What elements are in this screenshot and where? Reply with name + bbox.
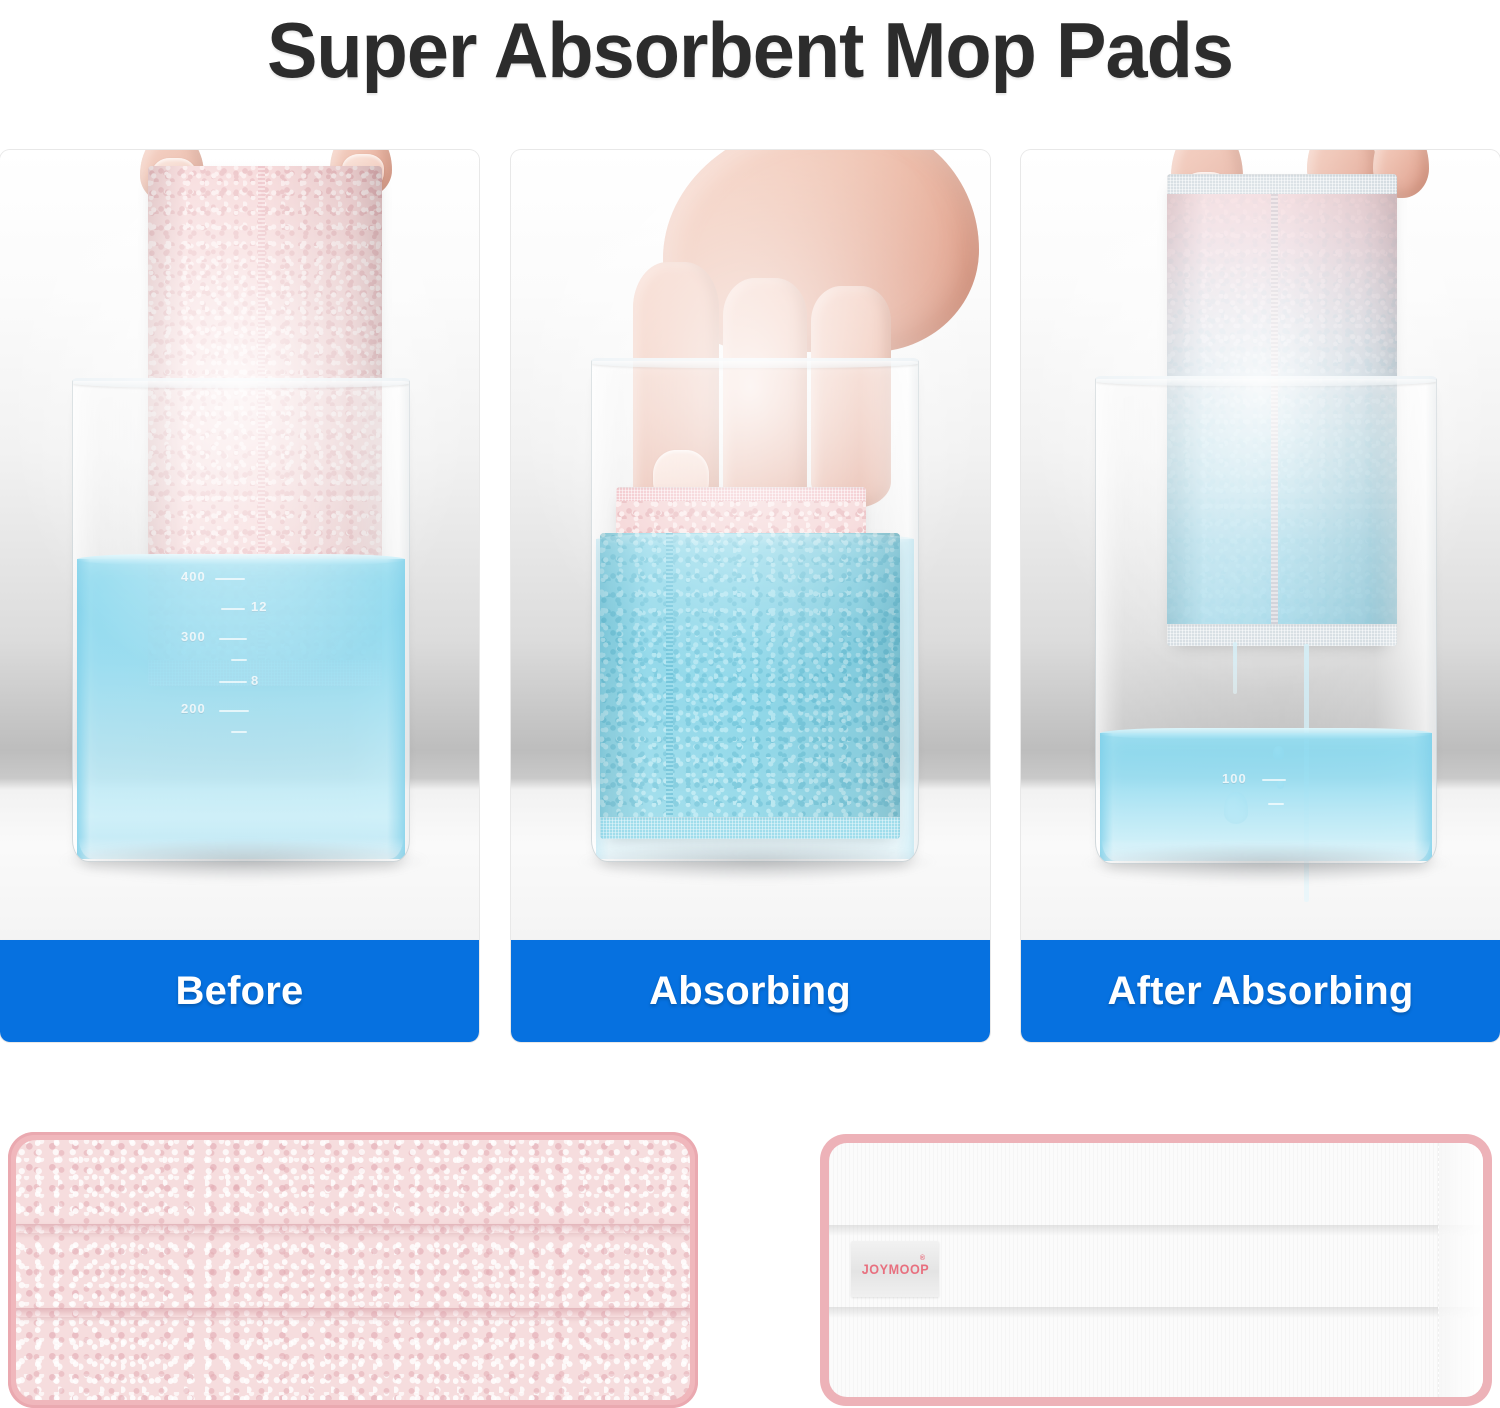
brand-tag: JOYMOOP ® (851, 1241, 939, 1297)
demo-panel-before[interactable]: 400 12 300 8 200 Before (0, 150, 479, 1042)
liquid-edge-right (387, 559, 405, 859)
page-header: Super Absorbent Mop Pads (0, 0, 1500, 100)
panel-caption-absorbing: Absorbing (511, 940, 990, 1042)
page-title: Super Absorbent Mop Pads (267, 11, 1233, 89)
liquid-surface (596, 534, 914, 545)
panel-caption-before: Before (0, 940, 479, 1042)
graduation-tick (219, 710, 249, 712)
graduation-tick (219, 638, 247, 640)
liquid-fill (596, 539, 914, 859)
graduation-tick (215, 578, 245, 580)
graduation-tick (1262, 779, 1286, 781)
pad-velcro-surface: JOYMOOP ® (829, 1143, 1483, 1397)
graduation-tick (231, 731, 247, 733)
graduation-tick (219, 681, 247, 683)
product-mop-pad-front[interactable] (8, 1132, 698, 1408)
liquid-edge-left (596, 539, 609, 859)
cup-rim (1095, 376, 1437, 386)
demo-panel-absorbing[interactable]: Absorbing (511, 150, 990, 1042)
panel-caption-after-absorbing: After Absorbing (1021, 940, 1500, 1042)
caption-label: After Absorbing (1108, 969, 1414, 1014)
pad-mesh-band (616, 487, 866, 501)
photo-absorbing (511, 150, 990, 940)
pad-band (16, 1308, 690, 1317)
pad-band (829, 1307, 1483, 1318)
brand-label: JOYMOOP (861, 1261, 929, 1277)
measuring-cup: 400 12 300 8 200 (72, 378, 410, 862)
liquid-edge-right (896, 539, 914, 859)
caption-label: Before (176, 969, 304, 1014)
liquid-surface (1100, 728, 1432, 739)
cup-shadow (60, 840, 428, 882)
graduation-tick (1268, 803, 1284, 805)
caption-label: Absorbing (649, 969, 851, 1014)
photo-after-absorbing: 100 (1021, 150, 1500, 940)
measuring-cup (591, 358, 919, 862)
product-shots-row: JOYMOOP ® (0, 1118, 1500, 1408)
product-mop-pad-back[interactable]: JOYMOOP ® (820, 1134, 1492, 1406)
pad-pocket-flap (1438, 1143, 1483, 1397)
cup-shadow (579, 842, 935, 882)
pad-mesh-band (1167, 174, 1397, 194)
photo-before: 400 12 300 8 200 (0, 150, 479, 940)
pad-plush-surface (16, 1140, 690, 1400)
measuring-cup: 100 (1095, 376, 1437, 864)
pad-band (829, 1225, 1483, 1236)
cup-shadow (1083, 844, 1451, 884)
absorption-demo-row: 400 12 300 8 200 Before (0, 150, 1500, 1042)
graduation-tick (221, 608, 245, 610)
graduation-tick (231, 659, 247, 661)
brand-trademark-mark: ® (920, 1255, 925, 1262)
cup-rim (591, 358, 919, 368)
liquid-fill (1100, 733, 1432, 861)
demo-panel-after-absorbing[interactable]: 100 After Absorbing (1021, 150, 1500, 1042)
pad-band (16, 1224, 690, 1233)
liquid-surface (77, 554, 405, 565)
cup-rim (72, 378, 410, 388)
liquid-edge-left (77, 559, 90, 859)
liquid-fill (77, 559, 405, 859)
mop-pad-top-visible (616, 487, 866, 539)
